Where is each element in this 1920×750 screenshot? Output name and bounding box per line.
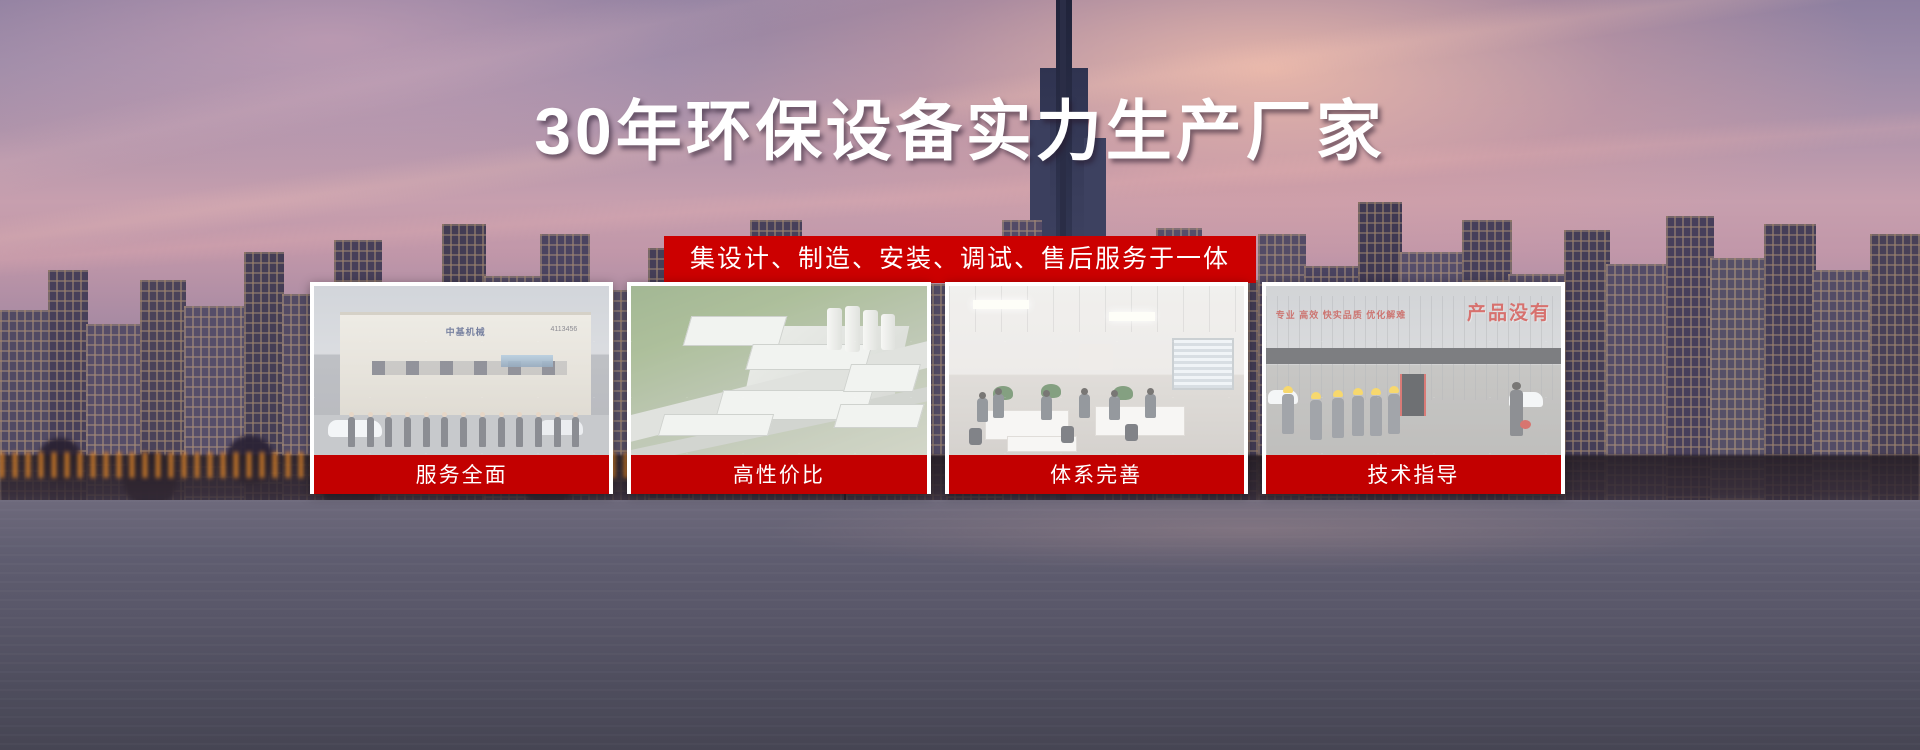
feature-card[interactable]: 体系完善 <box>945 282 1248 494</box>
page-title: 30年环保设备实力生产厂家 <box>0 98 1920 164</box>
banner-content: 30年环保设备实力生产厂家 集设计、制造、安装、调试、售后服务于一体 中基机械 … <box>0 0 1920 750</box>
subtitle-container: 集设计、制造、安装、调试、售后服务于一体 <box>0 236 1920 283</box>
card-image-plant-aerial <box>631 286 926 455</box>
card-image-factory-yard: 产品没有 专业 高效 快实品质 优化解难 <box>1266 286 1561 455</box>
feature-card[interactable]: 产品没有 专业 高效 快实品质 优化解难 <box>1262 282 1565 494</box>
card-caption: 技术指导 <box>1266 455 1561 494</box>
hero-banner: 30年环保设备实力生产厂家 集设计、制造、安装、调试、售后服务于一体 中基机械 … <box>0 0 1920 750</box>
card-caption: 高性价比 <box>631 455 926 494</box>
subtitle-badge: 集设计、制造、安装、调试、售后服务于一体 <box>664 236 1256 283</box>
feature-card[interactable]: 高性价比 <box>627 282 930 494</box>
feature-card[interactable]: 中基机械 4113456 服务全面 <box>310 282 613 494</box>
card-caption: 体系完善 <box>949 455 1244 494</box>
card-caption: 服务全面 <box>314 455 609 494</box>
feature-card-list: 中基机械 4113456 服务全面 <box>310 282 1565 494</box>
card-image-office-building: 中基机械 4113456 <box>314 286 609 455</box>
card-image-office-room <box>949 286 1244 455</box>
